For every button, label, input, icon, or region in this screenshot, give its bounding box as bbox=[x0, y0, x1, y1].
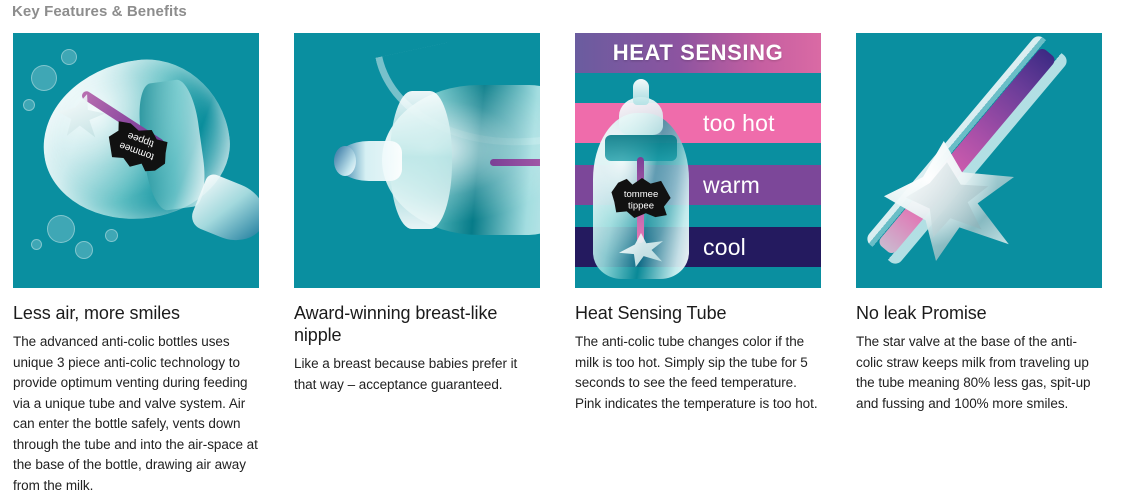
bubble-icon bbox=[31, 239, 42, 250]
heat-sensing-banner: HEAT SENSING bbox=[575, 33, 821, 73]
star-valve-straw-image[interactable] bbox=[856, 33, 1102, 288]
bubble-icon bbox=[75, 241, 93, 259]
bubble-icon bbox=[105, 229, 118, 242]
anti-colic-tube-shape bbox=[490, 159, 540, 166]
bubble-icon bbox=[31, 65, 57, 91]
card-body-text: The advanced anti-colic bottles uses uni… bbox=[13, 332, 259, 496]
card-body-text: The star valve at the base of the anti-c… bbox=[856, 332, 1102, 414]
bottle-illustration: tommee tippee bbox=[589, 79, 693, 279]
svg-text:tommee: tommee bbox=[624, 189, 658, 200]
card-body-text: Like a breast because babies prefer it t… bbox=[294, 354, 540, 395]
card-title: Award-winning breast-like nipple bbox=[294, 302, 540, 346]
card-title: No leak Promise bbox=[856, 302, 1102, 324]
tommee-tippee-logo: tommee tippee bbox=[611, 177, 673, 219]
tommee-tippee-logo-glyph: tommee tippee bbox=[611, 177, 673, 219]
breast-like-nipple-closeup-image[interactable] bbox=[294, 33, 540, 288]
feature-card-heat-sensing: HEAT SENSING too hot warm cool bbox=[575, 33, 821, 496]
bottle-teat-shape bbox=[633, 79, 649, 105]
bubble-icon bbox=[47, 215, 75, 243]
bubble-icon bbox=[61, 49, 77, 65]
feature-card-less-air: tommee tippee Less air, more smiles The … bbox=[13, 33, 259, 496]
section-heading: Key Features & Benefits bbox=[12, 2, 187, 22]
heat-sensing-banner-label: HEAT SENSING bbox=[613, 40, 784, 66]
bottle-on-side-with-bubbles-image[interactable]: tommee tippee bbox=[13, 33, 259, 288]
nipple-tip-shape bbox=[334, 146, 356, 176]
svg-text:tippee: tippee bbox=[628, 201, 654, 212]
feature-card-no-leak: No leak Promise The star valve at the ba… bbox=[856, 33, 1102, 496]
feature-cards-row: tommee tippee Less air, more smiles The … bbox=[13, 33, 1121, 496]
key-features-section: Key Features & Benefits tommee tippee bbox=[0, 0, 1134, 502]
heat-sensing-tube-image[interactable]: HEAT SENSING too hot warm cool bbox=[575, 33, 821, 288]
card-body-text: The anti-colic tube changes color if the… bbox=[575, 332, 821, 414]
feature-card-nipple: Award-winning breast-like nipple Like a … bbox=[294, 33, 540, 496]
bubble-icon bbox=[23, 99, 35, 111]
card-title: Less air, more smiles bbox=[13, 302, 259, 324]
card-title: Heat Sensing Tube bbox=[575, 302, 821, 324]
